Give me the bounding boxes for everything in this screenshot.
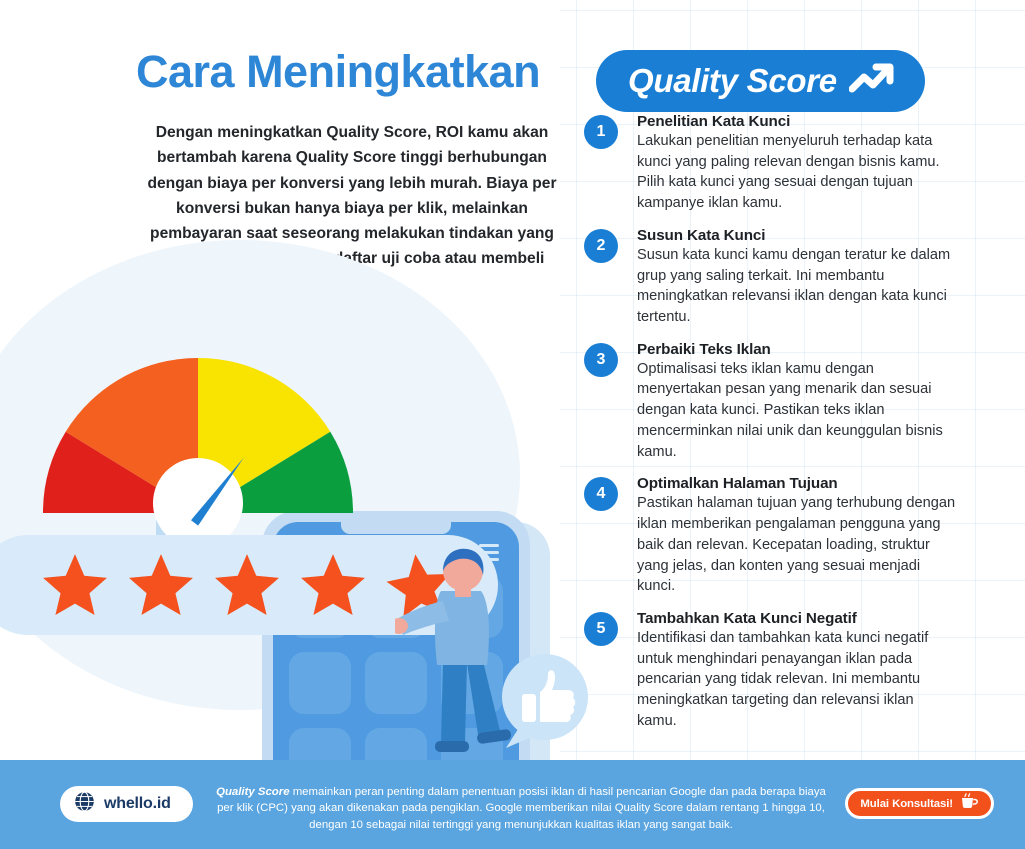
- infographic-root: Cara Meningkatkan Quality Score Dengan m…: [0, 0, 1025, 849]
- list-item: 3 Perbaiki Teks Iklan Optimalisasi teks …: [584, 341, 956, 463]
- step-title: Susun Kata Kunci: [637, 227, 956, 244]
- star-icon: [214, 552, 280, 616]
- logo-label: whello.id: [104, 795, 171, 813]
- footer-bar: whello.id Quality Score memainkan peran …: [0, 760, 1025, 849]
- step-number-badge: 1: [584, 115, 618, 149]
- star-icon: [42, 552, 108, 616]
- disclaimer-lead: Quality Score: [216, 786, 289, 798]
- steps-list: 1 Penelitian Kata Kunci Lakukan peneliti…: [584, 113, 956, 745]
- step-title: Tambahkan Kata Kunci Negatif: [637, 610, 956, 627]
- cta-label: Mulai Konsultasi!: [860, 798, 953, 810]
- badge-label: Quality Score: [628, 62, 837, 100]
- step-body: Lakukan penelitian menyeluruh terhadap k…: [637, 131, 956, 214]
- step-body: Identifikasi dan tambahkan kata kunci ne…: [637, 628, 956, 732]
- globe-www-icon: [74, 791, 95, 817]
- header: Cara Meningkatkan Quality Score: [0, 22, 1025, 100]
- footer-disclaimer: Quality Score memainkan peran penting da…: [214, 784, 828, 833]
- page-title: Cara Meningkatkan: [136, 46, 540, 98]
- trending-up-arrow-icon: [849, 62, 895, 101]
- list-item: 1 Penelitian Kata Kunci Lakukan peneliti…: [584, 113, 956, 214]
- star-icon: [300, 552, 366, 616]
- disclaimer-rest: memainkan peran penting dalam penentuan …: [217, 786, 826, 831]
- app-tile: [289, 652, 351, 714]
- coffee-cup-icon: [960, 793, 979, 814]
- start-consultation-button[interactable]: Mulai Konsultasi!: [845, 788, 994, 819]
- step-body: Susun kata kunci kamu dengan teratur ke …: [637, 245, 956, 328]
- list-item: 5 Tambahkan Kata Kunci Negatif Identifik…: [584, 610, 956, 732]
- star-rating: [42, 552, 452, 616]
- quality-score-badge: Quality Score: [596, 50, 925, 112]
- whello-logo[interactable]: whello.id: [60, 786, 193, 822]
- quality-score-gauge: [38, 353, 358, 523]
- phone-notch: [341, 522, 451, 534]
- step-body: Optimalisasi teks iklan kamu dengan meny…: [637, 359, 956, 463]
- step-title: Penelitian Kata Kunci: [637, 113, 956, 130]
- thumbs-up-bubble: [490, 652, 595, 757]
- list-item: 4 Optimalkan Halaman Tujuan Pastikan hal…: [584, 475, 956, 597]
- list-item: 2 Susun Kata Kunci Susun kata kunci kamu…: [584, 227, 956, 328]
- illustration: [0, 225, 600, 765]
- step-body: Pastikan halaman tujuan yang terhubung d…: [637, 493, 956, 597]
- star-icon: [128, 552, 194, 616]
- step-title: Optimalkan Halaman Tujuan: [637, 475, 956, 492]
- step-title: Perbaiki Teks Iklan: [637, 341, 956, 358]
